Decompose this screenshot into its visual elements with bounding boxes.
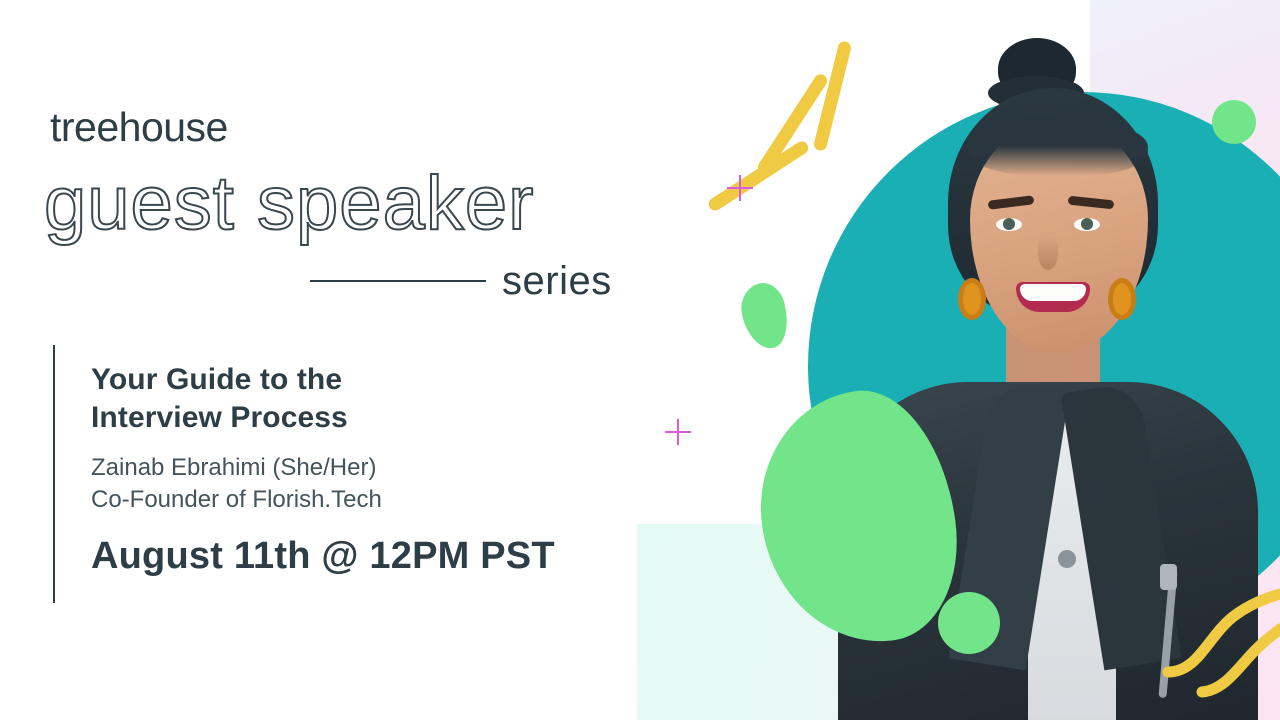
series-row: series: [310, 258, 630, 304]
talk-title-line-2: Interview Process: [91, 399, 651, 437]
promo-graphic: treehouse guest speaker series Your Guid…: [0, 0, 1280, 720]
headline-guest-speaker: guest speaker: [44, 160, 534, 247]
brand-wordmark: treehouse: [50, 104, 228, 151]
details-vertical-rule: [53, 345, 55, 603]
talk-title: Your Guide to the Interview Process: [91, 361, 651, 438]
yellow-spark-icon: [706, 139, 810, 213]
earring-icon: [958, 278, 986, 320]
speaker-role: Co-Founder of Florish.Tech: [91, 484, 651, 517]
talk-title-line-1: Your Guide to the: [91, 361, 651, 399]
green-blob-shape: [1212, 100, 1256, 144]
series-label: series: [502, 259, 612, 304]
green-blob-shape: [938, 592, 1000, 654]
plus-icon: [727, 175, 753, 201]
series-divider-rule: [310, 280, 486, 282]
yellow-squiggle-icon: [1150, 580, 1280, 720]
earring-icon: [1108, 278, 1136, 320]
speaker-name: Zainab Ebrahimi (She/Her): [91, 452, 651, 485]
text-content: treehouse guest speaker series Your Guid…: [0, 0, 660, 720]
green-blob-shape: [736, 279, 795, 354]
plus-icon: [665, 419, 691, 445]
event-date: August 11th @ 12PM PST: [91, 535, 651, 578]
